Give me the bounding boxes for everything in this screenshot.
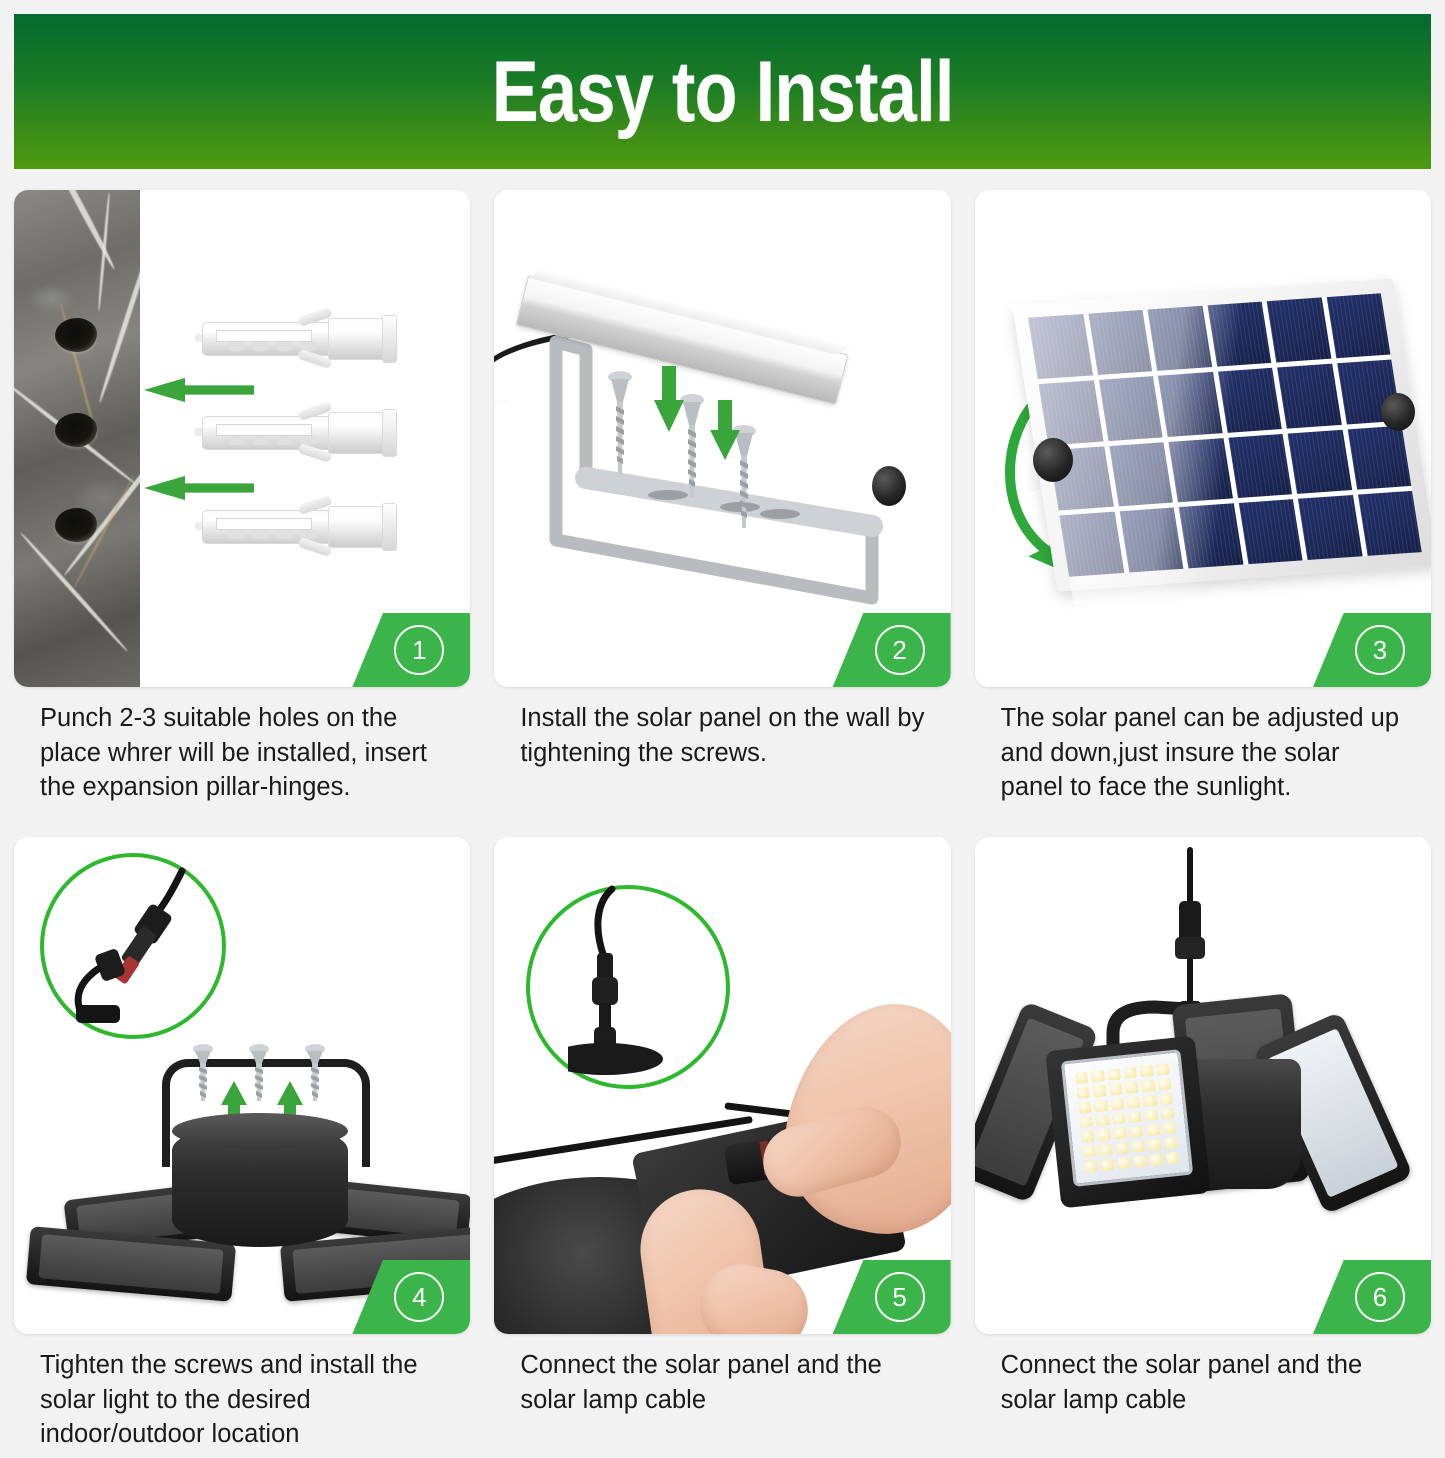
expansion-anchor (202, 318, 402, 360)
step-6-illustration (975, 837, 1431, 1334)
step-5-image-card: 5 (494, 837, 950, 1334)
adjustment-knob-right (1381, 393, 1415, 431)
hanging-cable (1187, 847, 1193, 905)
step-number: 2 (875, 625, 925, 675)
step-4-image-card: 4 (14, 837, 470, 1334)
drilled-hole (55, 318, 97, 352)
expansion-anchor (202, 412, 402, 454)
step-2-caption: Install the solar panel on the wall by t… (494, 701, 950, 811)
green-arrow-left-icon (140, 474, 258, 502)
step-6: 6 Connect the solar panel and the solar … (975, 837, 1431, 1458)
step-2: 2 Install the solar panel on the wall by… (494, 190, 950, 811)
step-4-illustration (14, 837, 470, 1334)
screw-icon (192, 1043, 214, 1105)
green-arrow-down-icon (708, 400, 742, 460)
expansion-anchor (202, 506, 402, 548)
step-6-caption: Connect the solar panel and the solar la… (975, 1348, 1431, 1458)
step-1-image-card: 1 (14, 190, 470, 687)
cable-connector-icon (54, 865, 212, 1025)
hub-top (172, 1113, 348, 1149)
step-3: 3 The solar panel can be adjusted up and… (975, 190, 1431, 811)
step-4-caption: Tighten the screws and install the solar… (14, 1348, 470, 1458)
step-6-image-card: 6 (975, 837, 1431, 1334)
step-1: 1 Punch 2-3 suitable holes on the place … (14, 190, 470, 811)
step-1-caption: Punch 2-3 suitable holes on the place wh… (14, 701, 470, 811)
step-2-image-card: 2 (494, 190, 950, 687)
step-5: 5 Connect the solar panel and the solar … (494, 837, 950, 1458)
step-5-caption: Connect the solar panel and the solar la… (494, 1348, 950, 1458)
page-header-banner: Easy to Install (14, 14, 1431, 169)
step-number: 5 (875, 1272, 925, 1322)
led-chip-array (1060, 1049, 1193, 1187)
green-arrow-down-icon (652, 366, 686, 432)
step-1-illustration (14, 190, 470, 687)
plugged-cable-icon (568, 885, 688, 1075)
drilled-hole (55, 508, 97, 542)
installation-steps-grid: 1 Punch 2-3 suitable holes on the place … (14, 190, 1431, 1458)
cable-collar (1175, 937, 1205, 959)
step-number: 6 (1355, 1272, 1405, 1322)
step-3-caption: The solar panel can be adjusted up and d… (975, 701, 1431, 811)
page-title: Easy to Install (492, 49, 954, 135)
step-3-image-card: 3 (975, 190, 1431, 687)
solar-panel (1012, 278, 1431, 591)
step-number: 4 (394, 1272, 444, 1322)
step-number: 3 (1355, 625, 1405, 675)
marble-wall (14, 190, 140, 687)
solar-cell-grid (1028, 293, 1421, 576)
panel-frame (1012, 278, 1431, 591)
screw-icon (304, 1043, 326, 1105)
step-3-illustration (975, 190, 1431, 687)
screw-icon (607, 370, 633, 480)
drilled-hole (55, 413, 97, 447)
screw-icon (248, 1043, 270, 1105)
adjustment-knob-left (1033, 438, 1073, 482)
step-number: 1 (394, 625, 444, 675)
step-2-illustration (494, 190, 950, 687)
step-5-illustration (494, 837, 950, 1334)
green-arrow-left-icon (140, 376, 258, 404)
step-4: 4 Tighten the screws and install the sol… (14, 837, 470, 1458)
